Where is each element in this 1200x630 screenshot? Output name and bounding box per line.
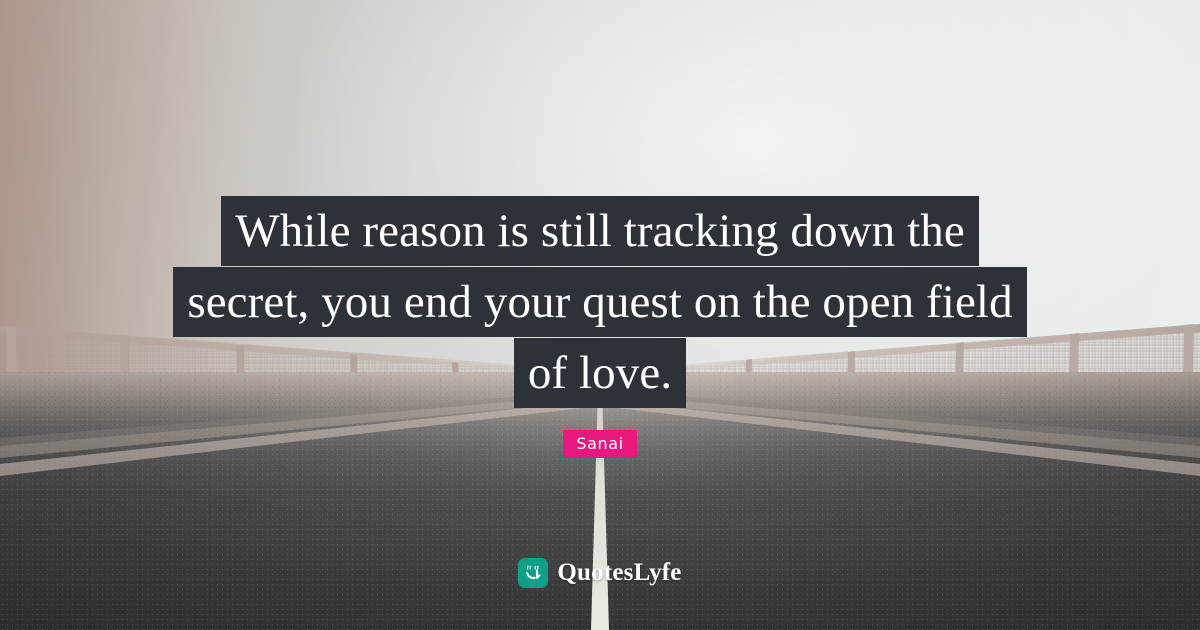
quote-line-3: of love. [514, 338, 686, 408]
quote-line-2: secret, you end your quest on the open f… [173, 267, 1026, 337]
author-area: Sanai [0, 430, 1200, 458]
brand-logo: QuotesLyfe [0, 558, 1200, 588]
quote-smiley-icon [518, 558, 548, 588]
quote-row: While reason is still tracking down the [0, 196, 1200, 266]
author-badge: Sanai [563, 430, 636, 458]
quote-block: While reason is still tracking down the … [0, 196, 1200, 408]
quote-row: of love. [0, 338, 1200, 408]
brand-wordmark: QuotesLyfe [557, 559, 681, 587]
quote-image-canvas: While reason is still tracking down the … [0, 0, 1200, 630]
quote-line-1: While reason is still tracking down the [221, 196, 979, 266]
quote-row: secret, you end your quest on the open f… [0, 267, 1200, 337]
road-center-line [0, 372, 1200, 630]
